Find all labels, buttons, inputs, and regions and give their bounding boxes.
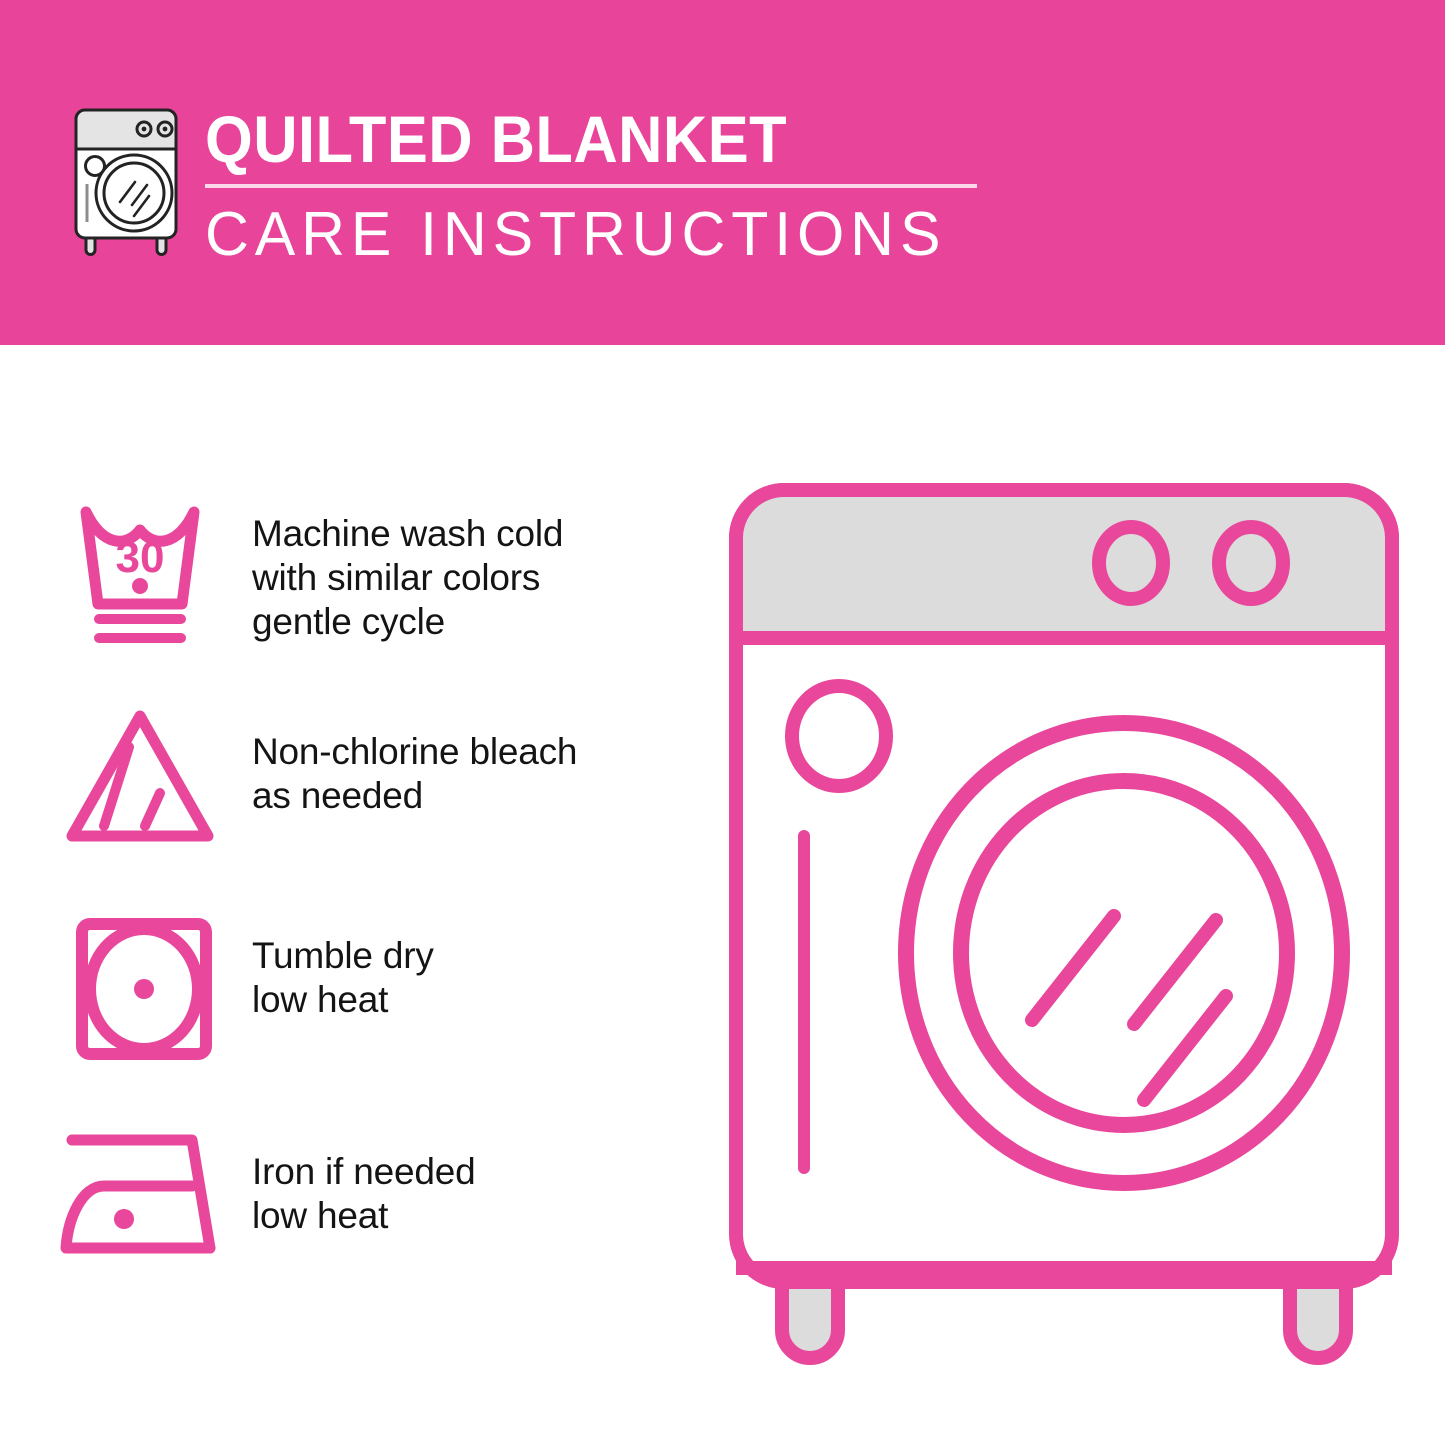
care-item-label: Machine wash cold with similar colors ge… (230, 490, 700, 644)
header-band: QUILTED BLANKET CARE INSTRUCTIONS (0, 0, 1445, 345)
wash-tub-30-icon: 30 (60, 490, 230, 655)
iron-low-heat-icon (60, 1114, 230, 1279)
care-item-iron: Iron if needed low heat (60, 1114, 700, 1322)
care-item-label: Non-chlorine bleach as needed (230, 698, 700, 818)
wash-temp-value: 30 (116, 533, 165, 582)
care-item-bleach: Non-chlorine bleach as needed (60, 698, 700, 906)
tumble-dry-low-icon (60, 906, 230, 1071)
bleach-triangle-icon (60, 698, 230, 863)
washing-machine-icon (62, 100, 190, 260)
care-item-label: Tumble dry low heat (230, 906, 700, 1022)
washing-machine-illustration (714, 468, 1414, 1368)
page-subtitle: CARE INSTRUCTIONS (205, 202, 979, 268)
care-instructions-infographic: QUILTED BLANKET CARE INSTRUCTIONS 30 (0, 0, 1445, 1445)
care-instruction-list: 30 Machine wash cold with similar colors… (60, 490, 700, 1322)
header-title-block: QUILTED BLANKET CARE INSTRUCTIONS (205, 104, 995, 268)
page-title: QUILTED BLANKET (205, 104, 940, 174)
title-divider (205, 184, 977, 188)
care-item-machine-wash: 30 Machine wash cold with similar colors… (60, 490, 700, 698)
care-item-tumble-dry: Tumble dry low heat (60, 906, 700, 1114)
care-item-label: Iron if needed low heat (230, 1114, 700, 1238)
